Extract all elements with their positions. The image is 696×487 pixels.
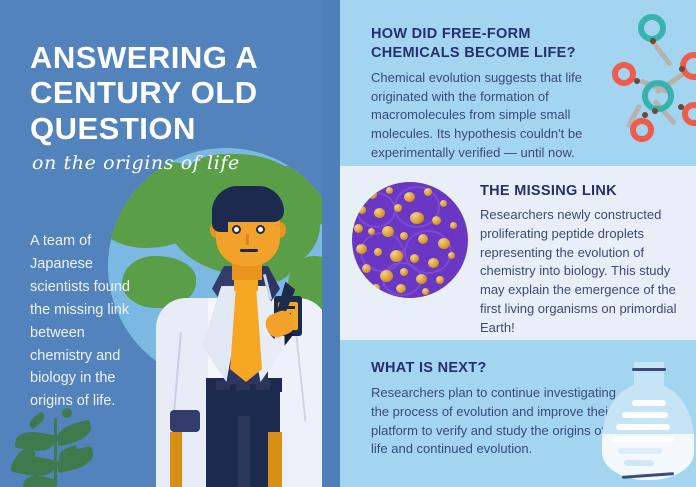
page-subtitle: on the origins of life [32,152,302,174]
section-heading: THE MISSING LINK [480,182,685,201]
plant-sprig-decoration [10,404,106,487]
section-free-form-chemicals: HOW DID FREE-FORM CHEMICALS BECOME LIFE?… [340,0,696,166]
left-summary-text: A team of Japanese scientists found the … [30,230,148,413]
page-title: ANSWERING A CENTURY OLD QUESTION [30,40,300,146]
section-body: Chemical evolution suggests that life or… [371,69,616,163]
column-divider [322,0,340,487]
scientist-illustration [150,186,322,487]
molecule-icon [616,6,696,156]
section-heading: HOW DID FREE-FORM CHEMICALS BECOME LIFE? [371,25,616,63]
section-what-is-next: WHAT IS NEXT? Researchers plan to contin… [340,340,696,487]
right-panel: HOW DID FREE-FORM CHEMICALS BECOME LIFE?… [340,0,696,487]
section-heading: WHAT IS NEXT? [371,359,621,378]
section-missing-link: THE MISSING LINK Researchers newly const… [340,166,696,340]
section-body: Researchers plan to continue investigati… [371,384,621,459]
peptide-droplets-image [352,182,468,298]
section-body: Researchers newly constructed proliferat… [480,206,685,338]
left-panel: ANSWERING A CENTURY OLD QUESTION on the … [0,0,322,487]
flask-icon [588,356,696,482]
infographic-canvas: ANSWERING A CENTURY OLD QUESTION on the … [0,0,696,487]
